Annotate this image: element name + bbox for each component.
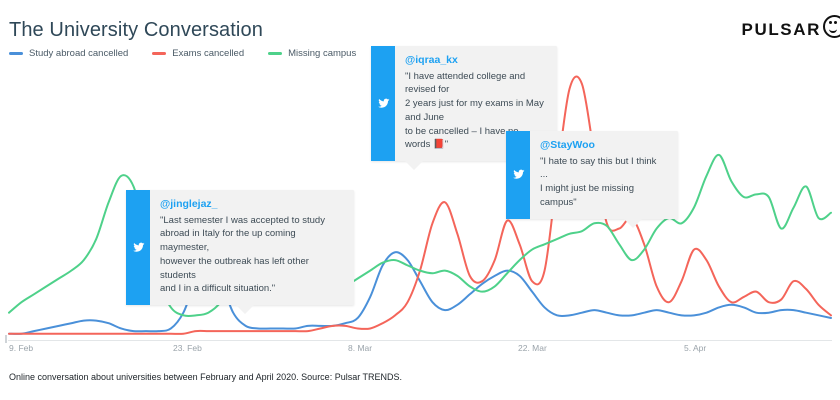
callout-body: @jinglejaz_ "Last semester I was accepte…: [150, 190, 354, 305]
callout-accent-bar: [371, 46, 395, 161]
callout-quote: "Last semester I was accepted to study a…: [160, 214, 342, 297]
x-tick-label: 5. Apr: [684, 343, 706, 353]
legend-label-exams-cancelled: Exams cancelled: [172, 48, 244, 59]
infographic-canvas: The University Conversation Study abroad…: [0, 0, 840, 400]
x-axis-line: [8, 340, 832, 341]
callout-quote: "I hate to say this but I think ... I mi…: [540, 155, 666, 210]
x-tick-label: 23. Feb: [173, 343, 202, 353]
callout-handle[interactable]: @iqraa_kx: [405, 54, 545, 67]
legend-swatch-missing-campus: [268, 52, 282, 55]
source-caption: Online conversation about universities b…: [9, 372, 402, 382]
chart-legend: Study abroad cancelled Exams cancelled M…: [9, 48, 356, 59]
x-axis-tick-labels: 9. Feb23. Feb8. Mar22. Mar5. Apr: [0, 343, 840, 357]
twitter-bird-icon: [132, 241, 145, 254]
axis-origin-cap: [5, 335, 7, 343]
pulsar-circle-face-icon: [823, 15, 840, 38]
callout-accent-bar: [506, 131, 530, 219]
twitter-bird-icon: [377, 97, 390, 110]
callout-tail: [405, 161, 423, 170]
legend-swatch-study-abroad: [9, 52, 23, 55]
x-tick-label: 9. Feb: [9, 343, 33, 353]
callout-jinglejaz[interactable]: @jinglejaz_ "Last semester I was accepte…: [126, 190, 354, 305]
pulsar-logo: PULSAR: [742, 21, 840, 38]
legend-swatch-exams-cancelled: [152, 52, 166, 55]
legend-label-missing-campus: Missing campus: [288, 48, 356, 59]
legend-item-study-abroad[interactable]: Study abroad cancelled: [9, 48, 128, 59]
legend-label-study-abroad: Study abroad cancelled: [29, 48, 128, 59]
callout-handle[interactable]: @jinglejaz_: [160, 198, 342, 211]
x-tick-label: 8. Mar: [348, 343, 372, 353]
callout-staywoo[interactable]: @StayWoo "I hate to say this but I think…: [506, 131, 678, 219]
twitter-bird-icon: [512, 168, 525, 181]
callout-body: @StayWoo "I hate to say this but I think…: [530, 131, 678, 219]
legend-item-exams-cancelled[interactable]: Exams cancelled: [152, 48, 244, 59]
brand-wordmark: PULSAR: [742, 21, 822, 38]
callout-tail: [624, 219, 642, 228]
page-title: The University Conversation: [9, 19, 263, 42]
callout-accent-bar: [126, 190, 150, 305]
callout-tail: [236, 305, 254, 314]
callout-handle[interactable]: @StayWoo: [540, 139, 666, 152]
x-tick-label: 22. Mar: [518, 343, 547, 353]
legend-item-missing-campus[interactable]: Missing campus: [268, 48, 356, 59]
